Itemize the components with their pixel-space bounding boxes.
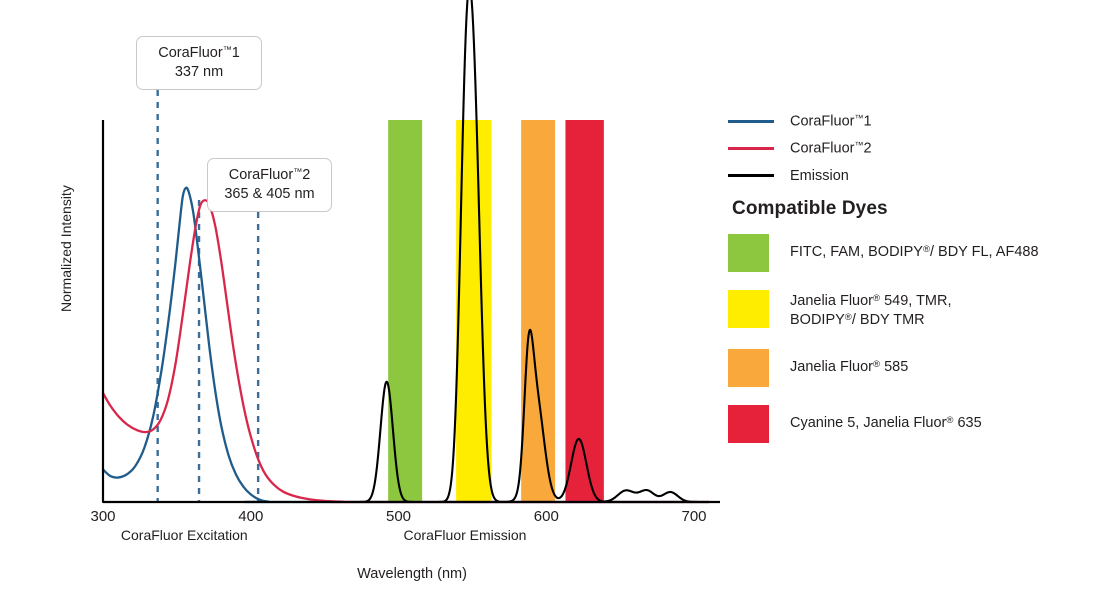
callout-corafluor-1: CoraFluor™1 337 nm bbox=[136, 36, 262, 90]
chart-area: CoraFluor™1 337 nm CoraFluor™2 365 & 405… bbox=[0, 0, 720, 612]
callout-cf2-line1: CoraFluor™2 bbox=[229, 167, 311, 183]
legend-label: CoraFluor™2 bbox=[790, 140, 872, 157]
emission-filter-bands bbox=[388, 120, 604, 502]
x-tick-400: 400 bbox=[238, 508, 263, 525]
callout-corafluor-2: CoraFluor™2 365 & 405 nm bbox=[207, 158, 332, 212]
dye-row-2: Janelia Fluor® 585 bbox=[728, 349, 1110, 387]
callout-cf2-line2: 365 & 405 nm bbox=[220, 185, 319, 204]
series-legend: CoraFluor™1CoraFluor™2Emission bbox=[728, 108, 1110, 189]
callout-cf1-line1: CoraFluor™1 bbox=[158, 45, 240, 61]
dye-color-swatch bbox=[728, 290, 769, 328]
legend-line-swatch bbox=[728, 147, 774, 150]
legend-row-0: CoraFluor™1 bbox=[728, 108, 1110, 135]
x-axis-title: Wavelength (nm) bbox=[357, 566, 467, 582]
legend-line-swatch bbox=[728, 120, 774, 123]
callout-cf1-line2: 337 nm bbox=[149, 63, 249, 82]
y-axis-title: Normalized Intensity bbox=[58, 185, 74, 312]
x-sub-label-emission: CoraFluor Emission bbox=[404, 527, 527, 543]
right-panel: CoraFluor™1CoraFluor™2Emission Compatibl… bbox=[728, 0, 1110, 612]
dye-row-3: Cyanine 5, Janelia Fluor® 635 bbox=[728, 405, 1110, 443]
compatible-dyes-list: FITC, FAM, BODIPY®/ BDY FL, AF488Janelia… bbox=[728, 234, 1110, 461]
dye-row-1: Janelia Fluor® 549, TMR,BODIPY®/ BDY TMR bbox=[728, 290, 1110, 331]
dye-label: Cyanine 5, Janelia Fluor® 635 bbox=[790, 405, 982, 433]
dye-color-swatch bbox=[728, 405, 769, 443]
legend-row-2: Emission bbox=[728, 162, 1110, 189]
dye-color-swatch bbox=[728, 349, 769, 387]
legend-label: CoraFluor™1 bbox=[790, 113, 872, 130]
dye-label: Janelia Fluor® 585 bbox=[790, 349, 908, 377]
dye-label: FITC, FAM, BODIPY®/ BDY FL, AF488 bbox=[790, 234, 1039, 262]
x-tick-700: 700 bbox=[681, 508, 706, 525]
dye-color-swatch bbox=[728, 234, 769, 272]
legend-line-swatch bbox=[728, 174, 774, 177]
red-band bbox=[565, 120, 603, 502]
x-sub-label-excitation: CoraFluor Excitation bbox=[121, 527, 248, 543]
orange-band bbox=[521, 120, 555, 502]
legend-label: Emission bbox=[790, 168, 849, 184]
dye-row-0: FITC, FAM, BODIPY®/ BDY FL, AF488 bbox=[728, 234, 1110, 272]
legend-row-1: CoraFluor™2 bbox=[728, 135, 1110, 162]
compatible-dyes-heading: Compatible Dyes bbox=[732, 198, 888, 220]
x-tick-300: 300 bbox=[90, 508, 115, 525]
x-tick-500: 500 bbox=[386, 508, 411, 525]
x-tick-600: 600 bbox=[534, 508, 559, 525]
dye-label: Janelia Fluor® 549, TMR,BODIPY®/ BDY TMR bbox=[790, 290, 952, 331]
